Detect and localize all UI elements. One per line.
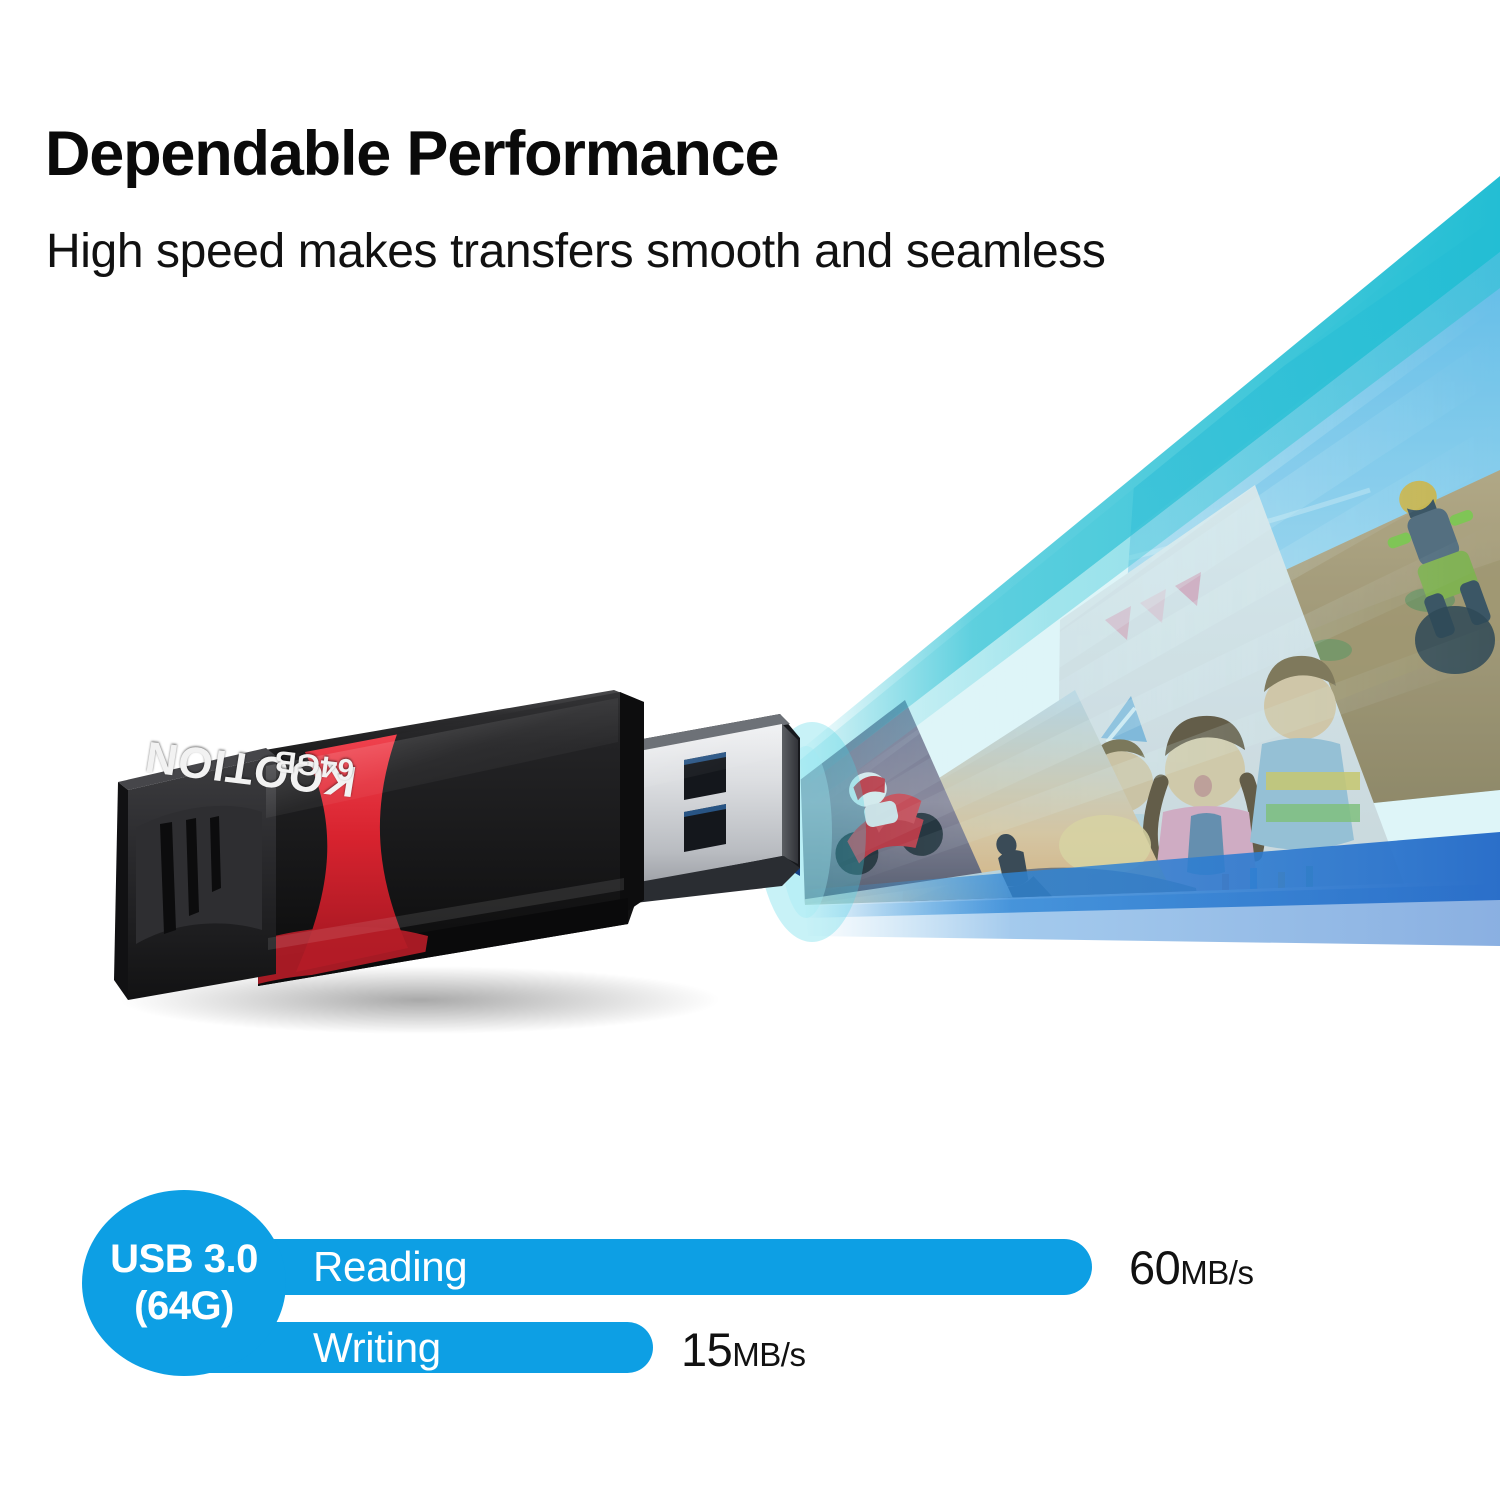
speed-spec-panel: Reading Writing USB 3.0 (64G) 60MB/s 15M…: [0, 0, 1500, 1500]
reading-speed-value: 60MB/s: [1129, 1240, 1253, 1295]
reading-speed-number: 60: [1129, 1241, 1180, 1294]
product-feature-card: Dependable Performance High speed makes …: [0, 0, 1500, 1500]
reading-label: Reading: [313, 1243, 467, 1291]
usb-version-line1: USB 3.0: [110, 1236, 258, 1283]
writing-label: Writing: [313, 1324, 441, 1372]
usb-version-line2: (64G): [134, 1283, 234, 1330]
writing-speed-value: 15MB/s: [681, 1322, 805, 1377]
writing-speed-unit: MB/s: [732, 1336, 805, 1373]
usb-version-badge: USB 3.0 (64G): [82, 1190, 286, 1376]
reading-speed-unit: MB/s: [1180, 1254, 1253, 1291]
reading-speed-bar: Reading: [182, 1239, 1092, 1295]
writing-speed-number: 15: [681, 1323, 732, 1376]
